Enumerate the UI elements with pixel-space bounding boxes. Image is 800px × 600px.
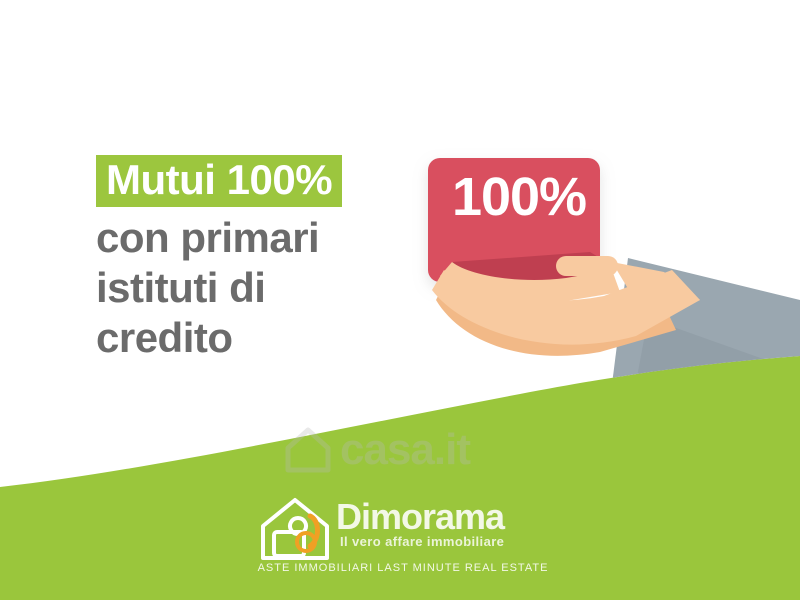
headline-line-3: credito xyxy=(96,313,426,363)
headline-line-2: istituti di xyxy=(96,263,426,313)
headline-highlight: Mutui 100% xyxy=(96,155,342,207)
logo-tagline: Il vero affare immobiliare xyxy=(340,534,504,549)
dimorama-logo: Dimorama Il vero affare immobiliare ASTE… xyxy=(258,492,548,588)
headline-highlight-row: Mutui 100% xyxy=(96,155,426,207)
logo-footer-text: ASTE IMMOBILIARI LAST MINUTE REAL ESTATE xyxy=(257,562,549,575)
logo-wordmark: Dimorama xyxy=(336,498,504,536)
dimorama-house-icon xyxy=(258,496,332,562)
headline-block: Mutui 100% con primari istituti di credi… xyxy=(96,155,426,363)
finger-tip xyxy=(556,256,618,276)
headline-line-1: con primari xyxy=(96,213,426,263)
promo-banner: casa.it xyxy=(0,0,800,600)
